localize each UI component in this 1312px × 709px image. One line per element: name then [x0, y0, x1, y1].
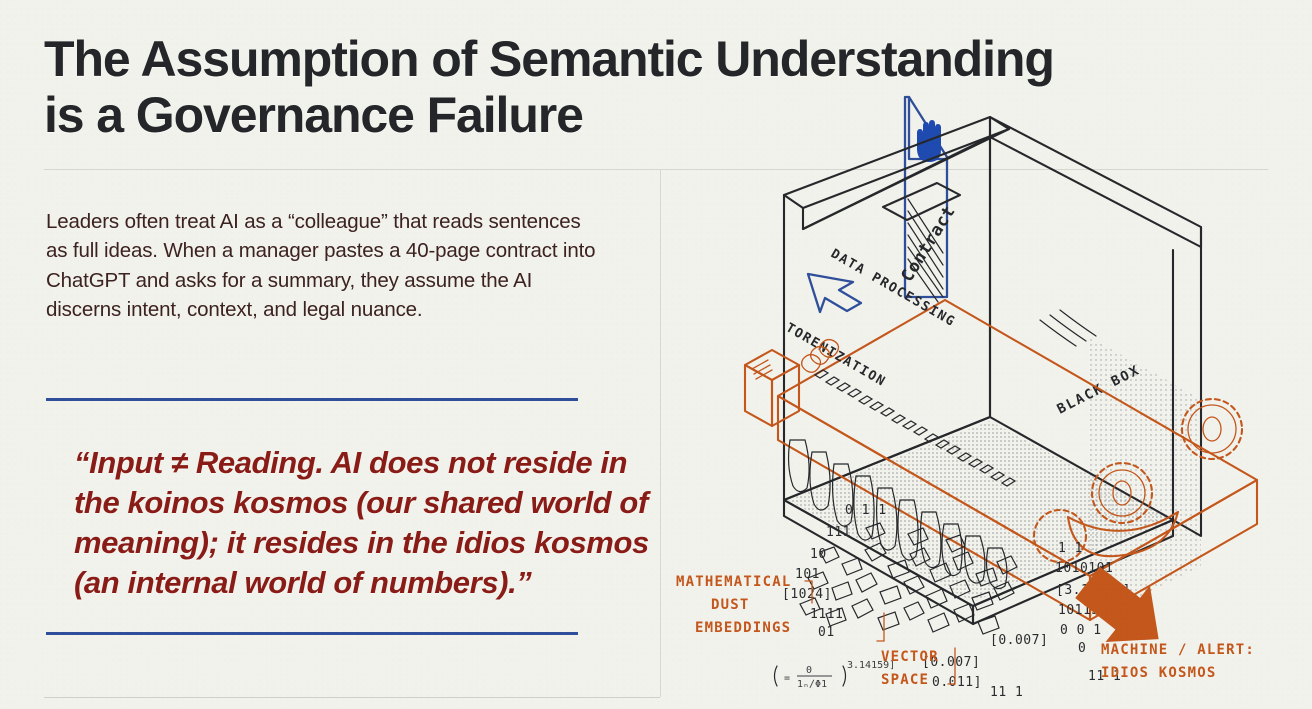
fragment-1: 111 [826, 525, 851, 540]
fragment-11: 1 1 [1058, 541, 1083, 556]
contract-title: Contract [897, 202, 959, 285]
callout-embeddings: EMBEDDINGS [695, 620, 791, 636]
fragment-16: 0 [1078, 641, 1086, 656]
input-arrow-icon [808, 274, 861, 312]
callout-machine-alert-line-2: IDIOS KOSMOS [1101, 665, 1217, 681]
formula-equals: = [784, 673, 790, 684]
callout-vector-space-line-1: VECTOR [881, 649, 939, 665]
pull-quote: “Input ≠ Reading. AI does not reside in … [74, 443, 674, 603]
callout-mathematical-dust-line-1: MATHEMATICAL [676, 574, 792, 590]
fragment-6: 01 [818, 625, 835, 640]
black-box-illustration: Contract [660, 84, 1312, 697]
callout-mathematical-dust-line-2: DUST [711, 597, 750, 613]
callout-machine-alert-line-1: MACHINE / ALERT: [1101, 642, 1255, 658]
fragment-0: 0 1 1 [845, 503, 887, 518]
callout-vector-space-line-2: SPACE [881, 672, 929, 688]
bottom-divider-rule [44, 697, 660, 698]
pull-quote-rule-bottom [46, 632, 578, 635]
fragment-5: 1111 [810, 607, 843, 622]
fragment-9: 0.011] [932, 675, 982, 690]
fragment-3: 101 [795, 567, 820, 582]
formula-numerator: 0 [806, 665, 812, 676]
fragment-7: [0.007] [990, 633, 1048, 648]
lead-paragraph: Leaders often treat AI as a “colleague” … [46, 207, 602, 325]
formula-denominator: 1ₙ∕Φ1 [797, 679, 827, 690]
pull-quote-rule-top [46, 398, 578, 401]
embeddings-formula: = 0 1ₙ∕Φ1 3.14159] [775, 660, 896, 690]
fragment-15: 0 0 1 [1060, 623, 1102, 638]
fragment-2: 10 [810, 547, 827, 562]
fragment-10: 11 1 [990, 685, 1023, 697]
page-title-line-1: The Assumption of Semantic Understanding [44, 31, 1224, 87]
